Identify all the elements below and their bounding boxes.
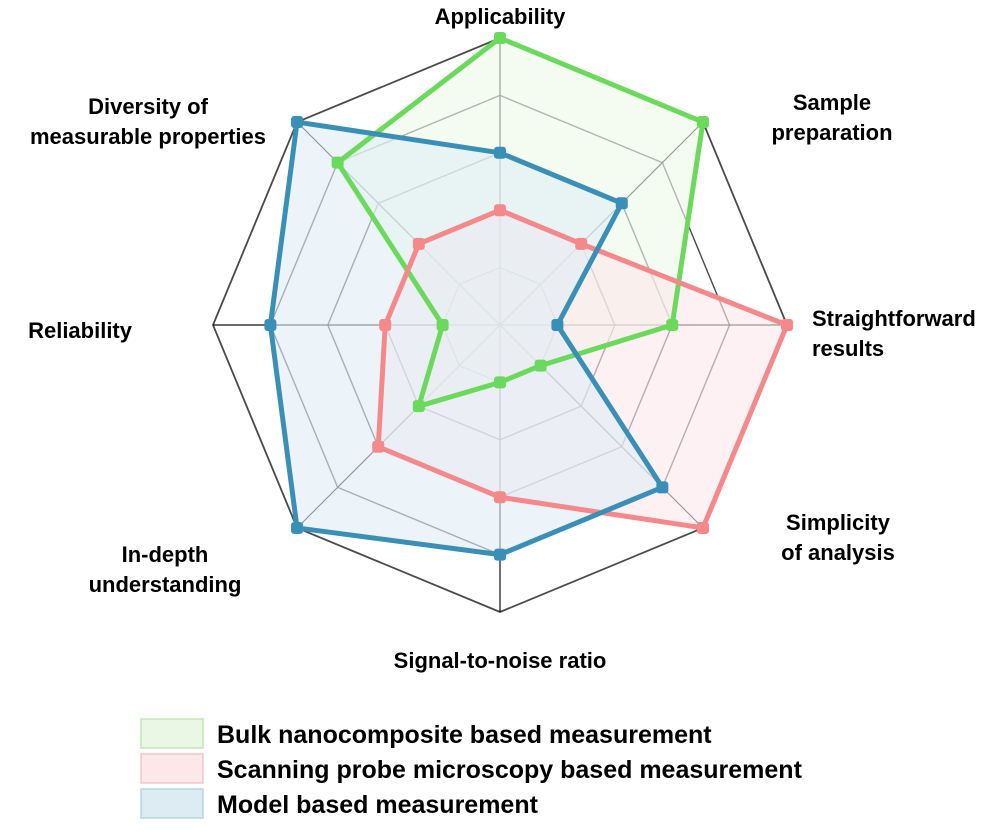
data-point-bulk-nanocomposite-straightforward-results xyxy=(667,320,678,331)
data-point-scanning-probe-microscopy-diversity-of-measurable-properties xyxy=(413,238,424,249)
axis-label-line: Reliability xyxy=(28,318,133,343)
axis-label-signal-to-noise-ratio: Signal-to-noise ratio xyxy=(394,648,607,673)
legend-label-scanning-probe-microscopy: Scanning probe microscopy based measurem… xyxy=(217,756,803,784)
data-point-model-based-diversity-of-measurable-properties xyxy=(292,117,303,128)
axis-label-applicability: Applicability xyxy=(435,4,567,29)
data-point-scanning-probe-microscopy-sample-preparation xyxy=(576,238,587,249)
axis-label-line: Simplicity xyxy=(786,510,891,535)
legend-item-bulk-nanocomposite[interactable]: Bulk nanocomposite based measurement xyxy=(141,719,712,749)
axis-label-line: Applicability xyxy=(435,4,567,29)
axis-label-simplicity-of-analysis: Simplicityof analysis xyxy=(781,510,895,565)
radar-chart: ApplicabilitySamplepreparationStraightfo… xyxy=(0,0,1000,838)
data-point-model-based-straightforward-results xyxy=(552,320,563,331)
axis-label-line: Diversity of xyxy=(88,94,208,119)
data-point-bulk-nanocomposite-in-depth-understanding xyxy=(413,401,424,412)
data-point-bulk-nanocomposite-sample-preparation xyxy=(697,117,708,128)
data-point-bulk-nanocomposite-reliability xyxy=(437,320,448,331)
data-point-model-based-simplicity-of-analysis xyxy=(657,482,668,493)
data-point-bulk-nanocomposite-simplicity-of-analysis xyxy=(535,360,546,371)
axis-label-line: results xyxy=(812,336,884,361)
legend-item-scanning-probe-microscopy[interactable]: Scanning probe microscopy based measurem… xyxy=(141,754,803,784)
data-point-model-based-reliability xyxy=(265,320,276,331)
data-point-model-based-sample-preparation xyxy=(616,198,627,209)
data-point-scanning-probe-microscopy-straightforward-results xyxy=(782,320,793,331)
data-point-model-based-in-depth-understanding xyxy=(292,522,303,533)
legend-label-bulk-nanocomposite: Bulk nanocomposite based measurement xyxy=(217,721,712,749)
legend-swatch-model-based xyxy=(141,789,203,818)
legend-swatch-scanning-probe-microscopy xyxy=(141,754,203,783)
data-point-model-based-signal-to-noise-ratio xyxy=(495,549,506,560)
legend: Bulk nanocomposite based measurementScan… xyxy=(141,719,803,819)
axis-label-line: measurable properties xyxy=(30,124,266,149)
axis-label-line: Sample xyxy=(793,90,871,115)
axis-label-in-depth-understanding: In-depthunderstanding xyxy=(89,542,242,597)
data-point-scanning-probe-microscopy-applicability xyxy=(495,205,506,216)
data-point-scanning-probe-microscopy-simplicity-of-analysis xyxy=(697,522,708,533)
axis-label-diversity-of-measurable-properties: Diversity ofmeasurable properties xyxy=(30,94,266,149)
data-point-scanning-probe-microscopy-signal-to-noise-ratio xyxy=(495,492,506,503)
radar-chart-page: ApplicabilitySamplepreparationStraightfo… xyxy=(0,0,1000,838)
axis-label-reliability: Reliability xyxy=(28,318,133,343)
legend-swatch-bulk-nanocomposite xyxy=(141,719,203,748)
legend-item-model-based[interactable]: Model based measurement xyxy=(141,789,539,819)
data-point-bulk-nanocomposite-signal-to-noise-ratio xyxy=(495,377,506,388)
data-point-scanning-probe-microscopy-reliability xyxy=(380,320,391,331)
axis-label-line: understanding xyxy=(89,572,242,597)
axis-label-line: Straightforward xyxy=(812,306,976,331)
data-point-model-based-applicability xyxy=(495,147,506,158)
legend-label-model-based: Model based measurement xyxy=(217,791,539,819)
data-point-bulk-nanocomposite-applicability xyxy=(495,33,506,44)
series-layer xyxy=(270,38,787,555)
axis-label-line: In-depth xyxy=(122,542,209,567)
data-point-bulk-nanocomposite-diversity-of-measurable-properties xyxy=(332,157,343,168)
axis-label-line: Signal-to-noise ratio xyxy=(394,648,607,673)
axis-label-line: of analysis xyxy=(781,540,895,565)
axis-label-straightforward-results: Straightforwardresults xyxy=(812,306,976,361)
axis-label-line: preparation xyxy=(771,120,892,145)
data-point-scanning-probe-microscopy-in-depth-understanding xyxy=(373,441,384,452)
axis-label-sample-preparation: Samplepreparation xyxy=(771,90,892,145)
